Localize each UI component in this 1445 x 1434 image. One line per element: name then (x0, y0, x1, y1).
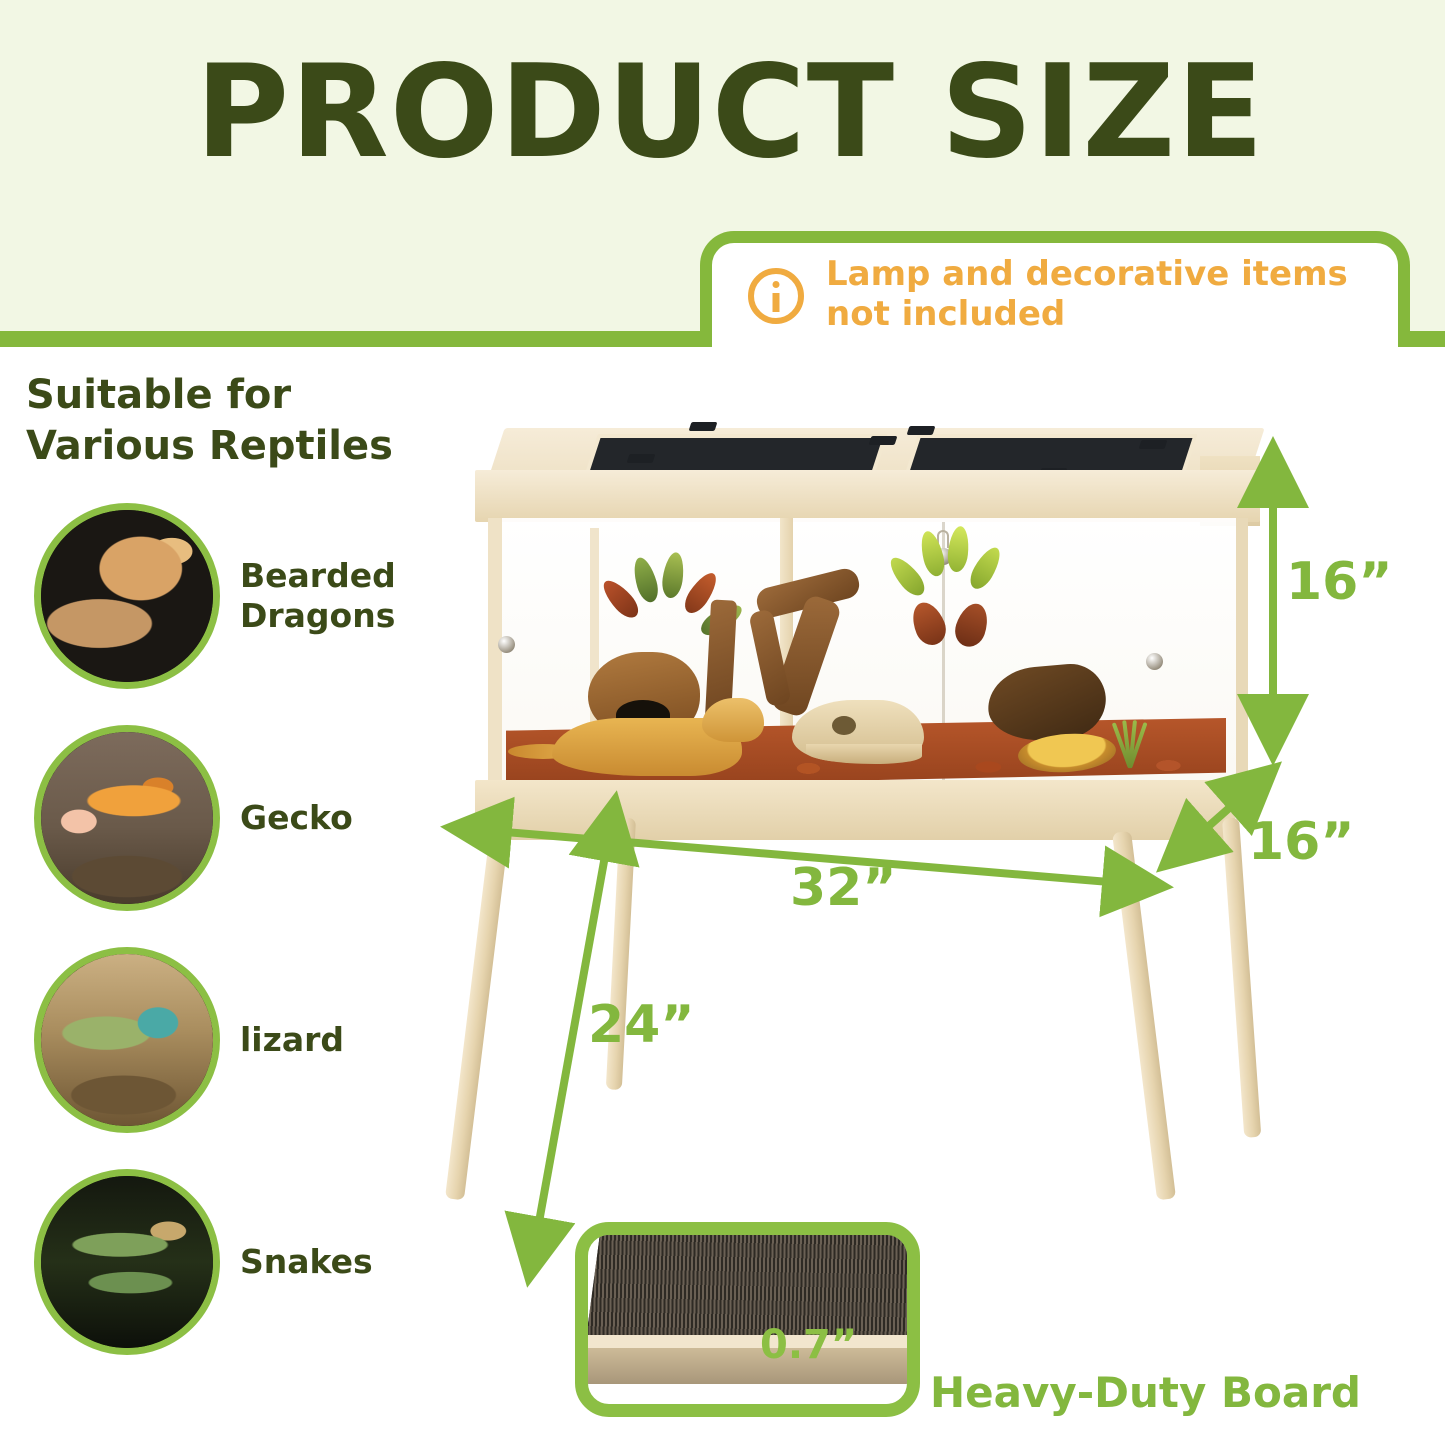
header-rule-left (0, 331, 700, 347)
skull-eye-socket (832, 716, 856, 735)
list-item-bearded-dragons: Bearded Dragons (34, 500, 434, 692)
hinge-icon (907, 426, 936, 435)
list-item-snakes: Snakes (34, 1166, 434, 1358)
list-item-label: Gecko (240, 798, 353, 838)
list-item-lizard: lizard (34, 944, 434, 1136)
frame-rail-top (475, 470, 1260, 522)
hinge-icon (869, 436, 898, 445)
sidebar-heading: Suitable for Various Reptiles (26, 370, 440, 472)
gecko-photo (34, 725, 220, 911)
board-edge-highlight (586, 1335, 920, 1349)
dimension-label-stand-height: 24” (588, 995, 695, 1055)
info-circle-icon (748, 268, 804, 324)
board-edge-wood (586, 1348, 920, 1384)
list-item-gecko: Gecko (34, 722, 434, 914)
suitable-reptiles-panel: Suitable for Various Reptiles (0, 370, 440, 472)
hinge-icon (1139, 440, 1168, 449)
dimension-label-height: 16” (1286, 552, 1393, 612)
hinge-icon (627, 454, 656, 463)
list-item-label: Snakes (240, 1242, 373, 1282)
list-item-label: lizard (240, 1020, 344, 1060)
dimension-label-board-thickness: 0.7” (760, 1322, 857, 1368)
page-title: PRODUCT SIZE (50, 46, 1410, 180)
heavy-duty-board-callout (575, 1222, 920, 1417)
snake-photo (34, 1169, 220, 1355)
notice-text: Lamp and decorative items not included (826, 255, 1348, 335)
lizard-photo (34, 947, 220, 1133)
stand-leg-front-right (1112, 831, 1176, 1201)
product-illustration (440, 400, 1290, 1280)
grass-tuft-decoration (1112, 716, 1146, 768)
hinge-icon (689, 422, 718, 431)
stand-leg-front-left (445, 831, 509, 1201)
door-latch-icon (1146, 653, 1163, 670)
board-caption: Heavy-Duty Board (930, 1368, 1361, 1417)
dimension-label-depth: 16” (1248, 812, 1355, 872)
notice-card: Lamp and decorative items not included (700, 231, 1410, 347)
door-latch-icon (498, 636, 515, 653)
board-mesh-surface (586, 1233, 920, 1339)
bearded-dragon-photo (34, 503, 220, 689)
list-item-label: Bearded Dragons (240, 556, 396, 635)
bearded-dragon-head (702, 698, 764, 742)
dimension-label-width: 32” (790, 858, 897, 918)
